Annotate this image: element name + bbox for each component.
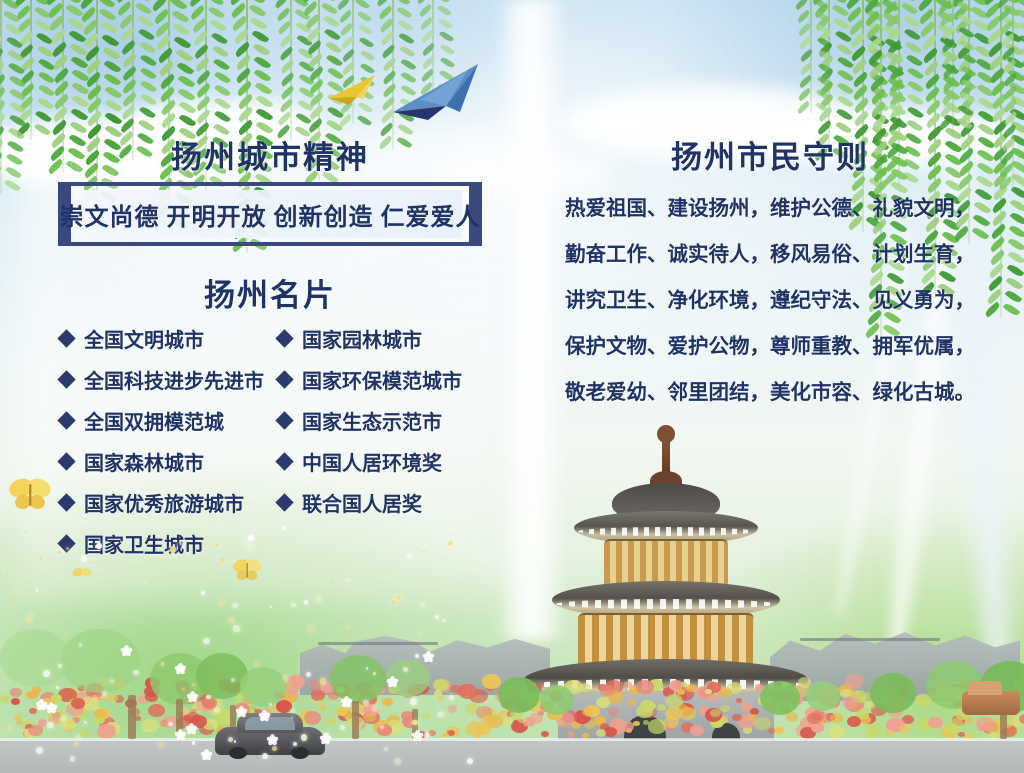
tree-illustration: [240, 667, 286, 707]
banner-top-rule: [58, 182, 482, 186]
meadow-flower: [36, 747, 43, 754]
flower-cluster: [627, 698, 637, 705]
tree-trunk: [352, 701, 359, 739]
meadow-flower: [262, 753, 268, 759]
city-card-item: 国家环保模范城市: [278, 359, 496, 400]
meadow-flower: [373, 672, 375, 674]
meadow-flower: [168, 722, 172, 726]
meadow-flower: [407, 554, 411, 558]
tree-illustration: [330, 655, 386, 703]
flower-cluster: [624, 681, 633, 688]
city-card-item: 全国文明城市: [60, 318, 278, 359]
citizen-rules-text: 热爱祖国、建设扬州，维护公德、礼貌文明，勤奋工作、诚实待人，移风易俗、计划生育，…: [565, 186, 977, 416]
flower-cluster: [579, 683, 591, 692]
flower-cluster: [582, 707, 594, 716]
white-bloom: [174, 729, 186, 741]
meadow-flower: [228, 737, 233, 742]
diamond-bullet-icon: [57, 370, 75, 388]
tree-illustration: [498, 677, 540, 713]
meadow-flower: [102, 691, 106, 695]
meadow-flower: [231, 678, 235, 682]
butterfly-icon: [72, 567, 92, 584]
willow-stem: [290, 0, 292, 142]
flower-cluster: [434, 690, 442, 696]
pagoda-eave-beads-2: [556, 599, 776, 609]
flower-cluster: [97, 724, 116, 739]
white-bloom: [35, 699, 47, 711]
flower-cluster: [748, 714, 758, 722]
meadow-flower: [79, 643, 83, 647]
flower-cluster: [928, 717, 943, 728]
citizen-rule-line: 保护文物、爱护公物，尊师重教、拥军优属，: [565, 324, 977, 370]
flower-cluster: [636, 705, 653, 718]
city-card-label: 国家园林城市: [302, 324, 422, 353]
meadow-flower: [36, 589, 38, 591]
flower-cluster: [976, 717, 995, 732]
meadow-flower: [170, 546, 177, 553]
flower-cluster: [842, 696, 858, 709]
meadow-flower: [192, 741, 195, 744]
willow-branch-icon: [1012, 0, 1014, 192]
flower-cluster: [608, 707, 619, 716]
meadow-flower: [203, 638, 209, 644]
poster-canvas: 扬州城市精神 崇文尚德 开明开放 创新创造 仁爱爱人 扬州名片 全国文明城市全国…: [0, 0, 1024, 773]
meadow-flower: [70, 756, 76, 762]
flower-cluster: [11, 698, 20, 705]
white-bloom: [422, 651, 434, 663]
meadow-flower: [412, 720, 417, 725]
motto-text: 崇文尚德 开明开放 创新创造 仁爱爱人: [60, 197, 481, 232]
tree-trunk: [128, 695, 136, 739]
meadow-flower: [92, 695, 98, 701]
citizen-rule-line: 讲究卫生、净化环境，遵纪守法、见义勇为，: [565, 278, 977, 324]
meadow-flower: [308, 626, 314, 632]
flower-cluster: [885, 730, 895, 738]
diamond-bullet-icon: [275, 411, 293, 429]
meadow-flower: [410, 698, 417, 705]
meadow-flower: [291, 603, 296, 608]
meadow-flower: [449, 695, 454, 700]
willow-branch-icon: [810, 0, 812, 114]
willow-stem: [810, 0, 812, 114]
city-illustration: [0, 443, 1024, 773]
flower-cluster: [636, 680, 653, 693]
flower-cluster: [847, 716, 861, 727]
flower-cluster: [541, 731, 548, 737]
meadow-flower: [396, 595, 401, 600]
city-card-label: 国家生态示范市: [302, 406, 442, 435]
meadow-flower: [438, 712, 443, 717]
flower-cluster: [141, 719, 159, 733]
roof-ridge: [800, 638, 940, 641]
car-wheel: [229, 747, 247, 759]
meadow-flower: [43, 670, 50, 677]
flower-cluster: [14, 714, 22, 721]
white-bloom: [319, 733, 331, 745]
meadow-flower: [420, 603, 424, 607]
willow-branch-icon: [30, 0, 32, 140]
white-bloom: [235, 706, 247, 718]
flower-cluster: [829, 726, 844, 738]
city-card-item: 全国科技进步先进市: [60, 359, 278, 400]
meadow-flower: [143, 582, 145, 584]
flower-cluster: [320, 705, 327, 710]
meadow-flower: [340, 725, 344, 729]
tree-illustration: [540, 685, 574, 715]
white-bloom: [120, 645, 132, 657]
willow-branch-icon: [952, 0, 954, 134]
white-bloom: [186, 691, 198, 703]
flower-cluster: [327, 718, 336, 725]
white-bloom: [386, 676, 398, 688]
meadow-flower: [363, 700, 369, 706]
willow-branch-icon: [290, 0, 292, 142]
meadow-flower: [435, 615, 439, 619]
willow-branch-icon: [0, 0, 2, 194]
white-bloom: [411, 730, 423, 742]
motto-banner: 崇文尚德 开明开放 创新创造 仁爱爱人: [58, 182, 482, 246]
meadow-flower: [201, 591, 205, 595]
meadow-flower: [61, 715, 66, 720]
butterfly-icon: [232, 558, 262, 583]
white-bloom: [340, 696, 352, 708]
city-card-label: 全国文明城市: [84, 324, 204, 353]
road-edge: [0, 738, 1024, 741]
diamond-bullet-icon: [57, 411, 75, 429]
meadow-flower: [442, 619, 445, 622]
flower-cluster: [732, 714, 742, 721]
flower-cluster: [0, 695, 10, 702]
flower-cluster: [285, 680, 301, 693]
citizen-rule-line: 勤奋工作、诚实待人，移风易俗、计划生育，: [565, 232, 977, 278]
flower-cluster: [665, 707, 683, 721]
flower-cluster: [736, 698, 742, 703]
banner-bottom-rule: [58, 242, 482, 246]
page-title-city-spirit: 扬州城市精神: [60, 132, 480, 177]
flower-cluster: [458, 684, 477, 699]
meadow-flower: [415, 654, 419, 658]
flower-cluster: [26, 691, 37, 700]
city-card-label: 全国科技进步先进市: [84, 365, 264, 394]
section-title-citizen-rules: 扬州市民守则: [560, 132, 980, 177]
meadow-flower: [40, 557, 42, 559]
diamond-bullet-icon: [57, 329, 75, 347]
flower-cluster: [148, 704, 165, 717]
car-window: [245, 717, 295, 730]
flower-cluster: [482, 674, 500, 688]
flower-cluster: [899, 725, 910, 734]
flower-cluster: [382, 698, 393, 706]
tree-illustration: [806, 681, 840, 711]
city-card-item: 国家生态示范市: [278, 400, 496, 441]
meadow-flower: [180, 542, 184, 546]
meadow-flower: [66, 547, 69, 550]
paper-plane-blue-icon: [390, 60, 486, 122]
flower-cluster: [28, 725, 43, 736]
citizen-rule-line: 热爱祖国、建设扬州，维护公德、礼貌文明，: [565, 186, 977, 232]
meadow-flower: [272, 746, 277, 751]
flower-cluster: [600, 685, 613, 695]
flower-cluster: [448, 705, 457, 712]
flower-cluster: [958, 732, 965, 737]
flower-cluster: [665, 694, 683, 708]
meadow-flower: [409, 528, 412, 531]
flower-cluster: [845, 674, 864, 689]
white-bloom: [258, 710, 270, 722]
butterfly-icon: [8, 477, 52, 513]
flower-cluster: [107, 694, 118, 703]
meadow-flower: [234, 740, 237, 743]
van-illustration: [962, 681, 1020, 715]
flower-cluster: [786, 712, 798, 722]
flower-cluster: [619, 721, 634, 732]
meadow-flower: [233, 625, 239, 631]
city-card-item: 全国双拥模范城: [60, 400, 278, 441]
tree-illustration: [760, 681, 800, 715]
city-card-label: 国家环保模范城市: [302, 365, 462, 394]
road: [0, 739, 1024, 773]
meadow-flower: [331, 580, 334, 583]
meadow-flower: [347, 626, 350, 629]
citizen-rule-line: 敬老爱幼、邻里团结，美化市容、绿化古城。: [565, 370, 977, 416]
flower-cluster: [705, 689, 711, 694]
meadow-flower: [392, 600, 395, 603]
flower-cluster: [433, 679, 449, 692]
paper-plane-yellow-icon: [327, 72, 379, 110]
tree-illustration: [0, 629, 70, 687]
meadow-flower: [57, 551, 60, 554]
meadow-flower: [255, 662, 259, 666]
flower-cluster: [869, 724, 883, 735]
section-title-city-cards: 扬州名片: [60, 270, 480, 315]
roof-ridge: [318, 642, 438, 645]
motto-box: 崇文尚德 开明开放 创新创造 仁爱爱人: [78, 190, 462, 238]
flower-cluster: [475, 723, 491, 735]
willow-leaf: [1003, 302, 1021, 318]
city-card-label: 全国双拥模范城: [84, 406, 224, 435]
flower-cluster: [442, 733, 448, 738]
flower-cluster: [567, 731, 576, 738]
diamond-bullet-icon: [275, 329, 293, 347]
diamond-bullet-icon: [275, 370, 293, 388]
white-bloom: [174, 663, 186, 675]
flower-cluster: [657, 704, 666, 711]
tree-illustration: [60, 629, 140, 693]
meadow-flower: [110, 679, 114, 683]
meadow-flower: [315, 596, 322, 603]
flower-cluster: [71, 698, 85, 709]
city-card-item: 国家园林城市: [278, 318, 496, 359]
tree-illustration: [870, 673, 916, 713]
white-bloom: [266, 734, 278, 746]
flower-cluster: [423, 713, 430, 719]
meadow-flower: [283, 675, 288, 680]
flower-cluster: [10, 688, 21, 697]
pagoda-finial-bead: [657, 425, 675, 443]
willow-stem: [1012, 0, 1014, 192]
meadow-flower: [75, 735, 81, 741]
flower-cluster: [945, 723, 959, 734]
meadow-flower: [304, 600, 309, 605]
van-roof: [968, 681, 1002, 695]
car-wheel: [291, 747, 309, 759]
meadow-flower: [232, 603, 237, 608]
meadow-flower: [133, 670, 138, 675]
white-bloom: [200, 749, 212, 761]
meadow-flower: [301, 734, 308, 741]
pagoda-eave-beads-1: [578, 527, 754, 536]
